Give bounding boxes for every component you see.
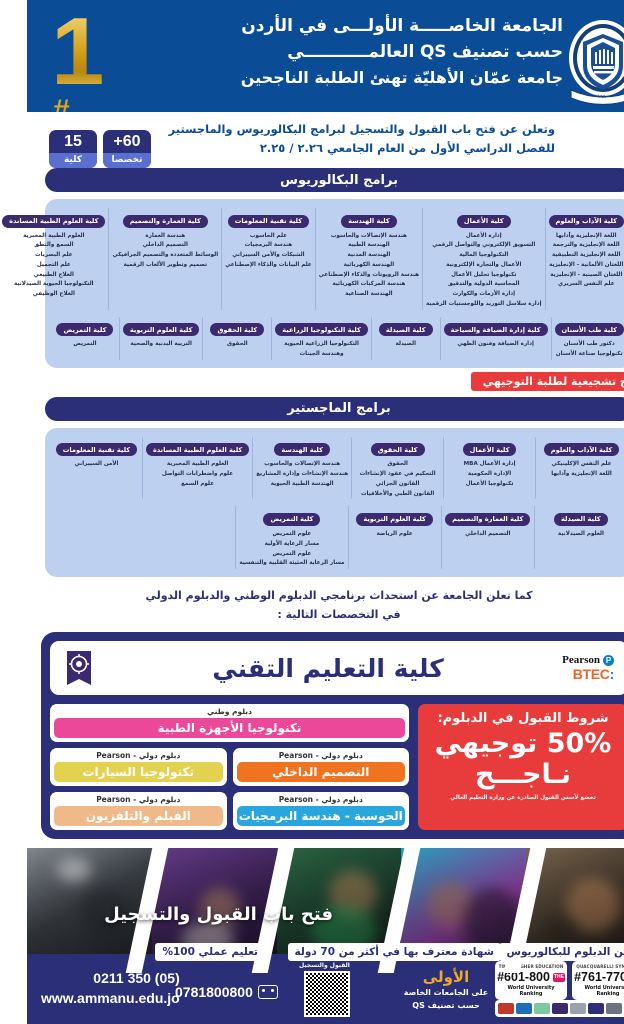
master-program-list: علوم التمريضمسار الرعاية الأوليةعلوم الت… (212, 530, 317, 569)
bachelor-college-name: كلية تقنية المعلومات (201, 215, 282, 228)
tech-education-block: P Pearson :BTEC كلية التعليم التقني شروط… (14, 632, 610, 839)
bachelor-program-item: هندسة البرمجيات (198, 241, 285, 251)
bachelor-program-item: التصميم الداخلي (85, 241, 191, 251)
diploma-card-row: دبلوم وطنيتكنولوجيا الأجهزة الطبية (23, 704, 382, 742)
requirements-percent: 50% توجيهي (399, 729, 593, 759)
master-column: كلية تقنية المعلوماتالأمن السيبراني (24, 437, 115, 500)
diploma-card-name: التصميم الداخلي (210, 762, 379, 782)
bachelor-column: كلية تقنية المعلوماتعلم الحاسوبهندسة الب… (194, 208, 288, 310)
bachelor-college-name: كلية الأعمال (430, 215, 484, 228)
subheader-line-1: وتعلن عن فتح باب القبول والتسجيل لبرامج … (138, 120, 528, 139)
bachelor-program-item: إدارة الضيافة وفنون الطهي (417, 340, 521, 350)
master-program-item: هندسة الإتصالات والحاسوب (229, 460, 321, 470)
diploma-card[interactable]: دبلوم دولي - Pearsonتكنولوجيا السيارات (23, 748, 200, 786)
bachelor-column: كلية الأعمالإدارة الأعمالالتسويق الإلكتر… (395, 208, 518, 310)
master-program-item: علوم التمريض (212, 530, 317, 540)
bachelor-college-name: كلية العمارة والتصميم (96, 215, 181, 228)
bachelor-program-item: الوسائط المتعددة والتصميم الجرافيكي (85, 251, 191, 261)
footer-website[interactable]: www.ammanu.edu.jo (14, 988, 153, 1008)
bachelor-program-list: اللغة الإنجليزية وآدابهااللغة الإنجليزية… (522, 232, 597, 291)
header-titles: الجامعة الخاصـــــة الأولـــى في الأردن … (136, 14, 536, 91)
bachelor-program-list: العلوم الطبية المخبريةالسمع والنطقعلم ال… (0, 232, 78, 300)
bachelor-program-list: هندسة العمارةالتصميم الداخليالوسائط المت… (85, 232, 191, 271)
bachelor-program-list: الحقوق (179, 340, 241, 350)
bachelor-college-name: كلية التكنولوجيا الزراعية (248, 323, 341, 336)
bachelor-college-name: كلية الحقوق (183, 323, 237, 336)
phone-icon (231, 985, 251, 999)
master-college-name: كلية العلوم التربوية (329, 513, 406, 526)
footer-mobile-number: 0781800800 (148, 984, 226, 1000)
bachelor-panel: كلية الآداب والعلوماللغة الإنجليزية وآدا… (18, 199, 606, 368)
diploma-card-kicker: دبلوم دولي - Pearson (27, 751, 196, 762)
spacer (116, 506, 208, 569)
bachelor-program-item: علم البصريات (0, 251, 78, 261)
diploma-card-name: الفيلم والتلفزيون (27, 806, 196, 826)
diploma-card-kicker: دبلوم دولي - Pearson (27, 795, 196, 806)
bachelor-program-list: علم الحاسوبهندسة البرمجياتالشبكات والأمن… (198, 232, 285, 271)
bachelor-column: كلية العلوم التربويةالتربية البدنية والص… (92, 317, 176, 360)
poster-root: 1 # الجامعة الخاصـــــة الأولـــى في الأ… (0, 0, 624, 1024)
master-college-name: كلية العمارة والتصميم (418, 513, 503, 526)
diploma-card[interactable]: دبلوم دولي - Pearsonالفيلم والتلفزيون (23, 792, 200, 830)
master-program-item: القانون الطبي والأخلاقيات (328, 490, 413, 500)
requirements-heading: شروط القبول في الدبلوم: (399, 711, 593, 726)
header-line-2: حسب تصنيف QS العالمـــــــــــي (136, 40, 536, 66)
master-college-name: كلية الآداب والعلوم (517, 443, 592, 456)
master-program-item: التحكيم في عقود الإنشاءات (328, 470, 413, 480)
qr-code[interactable] (277, 971, 323, 1017)
master-program-item: مسار الرعاية الحثيثة القلبية والتنفسية (212, 559, 317, 569)
master-college-name: كلية تقنية المعلومات (29, 443, 110, 456)
master-program-item: القانون الجزائي (328, 480, 413, 490)
bachelor-column: كلية التمريضالتمريض (24, 317, 92, 360)
bachelor-program-list: دكتور طب الأسنانتكنولوجيا صناعة الأسنان (528, 340, 597, 360)
bachelor-program-item: العلاج الطبيعي (0, 271, 78, 281)
logo-8-icon (471, 1003, 487, 1014)
ranking-org-icon: THE (526, 973, 538, 982)
bachelor-college-name: كلية الآداب والعلوم (522, 215, 597, 228)
bachelor-program-item: إدارة الأزمات والكوارث (399, 290, 515, 300)
stat-specialties-label: تخصصا (76, 153, 124, 168)
strip-chip-1: تعليم عملي 100% (128, 943, 238, 961)
header-line-1: الجامعة الخاصـــــة الأولـــى في الأردن (136, 14, 536, 40)
bachelor-column: كلية الصيدلةالصيدلة (344, 317, 413, 360)
bachelor-program-list: إدارة الضيافة وفنون الطهي (417, 340, 521, 350)
master-program-item: العلوم الصيدلانية (511, 530, 597, 540)
stat-colleges: 15 كلية (22, 130, 70, 168)
logo-2-icon (579, 1003, 595, 1014)
master-program-item: التصميم الداخلي (418, 530, 504, 540)
bachelor-column: كلية العلوم الطبية المساندةالعلوم الطبية… (0, 208, 81, 310)
master-program-item: علوم واضطرابات التواصل (119, 470, 222, 480)
master-program-item: علم النفس الإكلينيكي (512, 460, 597, 470)
bachelor-program-item: الشبكات والأمن السيبراني (198, 251, 285, 261)
diploma-intro-line-1: كما تعلن الجامعة عن استحداث برنامجي الدب… (18, 587, 606, 606)
bachelor-row-2: كلية طب الأسناندكتور طب الأسنانتكنولوجيا… (24, 317, 600, 360)
university-crest-icon: ١٩٩٠ (538, 16, 614, 112)
bachelor-program-item: الصيدلة (348, 340, 410, 350)
bachelor-program-list: التمريض (27, 340, 89, 350)
strip-chip-2: شهادة معترف بها في أكثر من 70 دولة (261, 943, 474, 961)
bachelor-program-item: اللغة الإنجليزية وآدابها (522, 232, 597, 242)
logo-5-icon (525, 1003, 541, 1014)
bachelor-college-name: كلية العلوم التربوية (96, 323, 173, 336)
diploma-card[interactable]: دبلوم دولي - Pearsonالحوسبة - هندسة البر… (206, 792, 383, 830)
logo-4-icon (543, 1003, 559, 1014)
first-rank-block: الأولى على الجامعات الخاصة حسب تصنيف QS (376, 968, 462, 1012)
master-column: كلية الصيدلةالعلوم الصيدلانية (507, 506, 600, 569)
diploma-card-name: تكنولوجيا الأجهزة الطبية (27, 718, 378, 738)
first-rank-sub-2: حسب تصنيف QS (376, 1000, 462, 1012)
bachelor-program-item: إدارة سلاسل التوريد واللوجستيات الرقمية (399, 300, 515, 310)
master-program-item: مسار الرعاية الأولية (212, 540, 317, 550)
bachelor-program-item: وهندسة الجينات (248, 350, 341, 360)
pearson-name: Pearson (535, 655, 573, 666)
master-program-list: هندسة الإتصالات والحاسوبهندسة الإنشاءات … (229, 460, 321, 489)
master-program-item: تكنولوجيا الأعمال (420, 480, 505, 490)
first-rank-sub-1: على الجامعات الخاصة (376, 987, 462, 999)
logo-7-icon (489, 1003, 505, 1014)
master-program-item: الأمن السيبراني (27, 460, 112, 470)
rank-number: 1 (24, 4, 77, 100)
bachelor-program-item: علم البيانات والذكاء الإصطناعي (198, 261, 285, 271)
bachelor-program-item: التكنولوجيا الحيوية الصيدلانية (0, 280, 78, 290)
diploma-card-name: تكنولوجيا السيارات (27, 762, 196, 782)
master-college-name: كلية التمريض (236, 513, 293, 526)
master-program-item: اللغة الإنجليزية وآدابها (512, 470, 597, 480)
master-row-1: كلية الآداب والعلومعلم النفس الإكلينيكيا… (24, 437, 600, 500)
master-program-list: الحقوقالتحكيم في عقود الإنشاءاتالقانون ا… (328, 460, 413, 499)
master-program-list: إدارة الأعمال MBAالإدارة الحكوميةتكنولوج… (420, 460, 505, 489)
btec-label: :BTEC (535, 667, 587, 681)
bachelor-program-list: إدارة الأعمالالتسويق الإلكتروني والتواصل… (399, 232, 515, 310)
bachelor-program-item: اللغتان الصينية - الإنجليزية (522, 271, 597, 281)
master-column: كلية الآداب والعلومعلم النفس الإكلينيكيا… (508, 437, 600, 500)
master-program-list: الأمن السيبراني (27, 460, 112, 470)
bachelor-program-item: المحاسبة الدولية والتدقيق (399, 280, 515, 290)
bachelor-college-name: كلية طب الأسنان (528, 323, 597, 336)
subheader-line-2: للفصل الدراسي الأول من العام الجامعي ٢.٢… (138, 139, 528, 158)
master-program-list: التصميم الداخلي (418, 530, 504, 540)
master-panel: كلية الآداب والعلومعلم النفس الإكلينيكيا… (18, 428, 606, 577)
accreditation-logos (468, 1000, 616, 1017)
master-column: كلية العمارة والتصميمالتصميم الداخلي (414, 506, 507, 569)
header-line-3: جامعة عمّان الأهليّة تهنئ الطلبة الناجحي… (136, 65, 536, 91)
bachelor-program-item: الهندسة الصناعية (292, 290, 392, 300)
bachelor-program-item: الهندسة المدنية (292, 251, 392, 261)
bachelor-program-item: هندسة الإتصالات والحاسوب (292, 232, 392, 242)
ranking-org-icon: QS (603, 973, 615, 982)
pearson-mark-icon: P (576, 655, 587, 666)
diploma-card-row: دبلوم دولي - Pearsonالحوسبة - هندسة البر… (23, 792, 382, 830)
bachelor-program-item: الأعمال والتجارة الإلكترونية (399, 261, 515, 271)
bachelor-program-item: الهندسة الطبية (292, 241, 392, 251)
strip-headline: فتح باب القبول والتسجيل (77, 904, 306, 925)
master-program-item: الحقوق (328, 460, 413, 470)
stat-specialties-value: 60+ (76, 130, 124, 153)
ranking-caption: World University Ranking (470, 985, 538, 997)
bachelor-program-item: التكنولوجيا الزراعية الحيوية (248, 340, 341, 350)
diploma-card[interactable]: دبلوم دولي - Pearsonالتصميم الداخلي (206, 748, 383, 786)
bachelor-college-name: كلية إدارة الضيافة والسياحة (417, 323, 521, 336)
bachelor-column: كلية الهندسةهندسة الإتصالات والحاسوبالهن… (288, 208, 395, 310)
bachelor-college-name: كلية العلوم الطبية المساندة (0, 215, 78, 228)
bachelor-column: كلية الحقوقالحقوق (175, 317, 244, 360)
tech-education-body: شروط القبول في الدبلوم: 50% توجيهي نـاجـ… (23, 704, 601, 830)
bachelor-row-1: كلية الآداب والعلوماللغة الإنجليزية وآدا… (24, 208, 600, 310)
master-row-2: كلية الصيدلةالعلوم الصيدلانيةكلية العمار… (24, 506, 600, 569)
master-program-item: الهندسة الطبية الحيوية (229, 480, 321, 490)
bachelor-program-item: التسويق الإلكتروني والتواصل الرقمي (399, 241, 515, 251)
tech-education-title: كلية التعليم التقني (67, 654, 535, 683)
stats-group: 60+ تخصصا 15 كلية (22, 130, 124, 168)
photo-strip: فتح باب القبول والتسجيل تعليم عملي 100% … (0, 848, 624, 973)
bachelor-program-item: العلاج الوظيفي (0, 290, 78, 300)
pearson-btec-logo: P Pearson :BTEC (535, 655, 587, 681)
bachelor-program-item: التربية البدنية والصحية (96, 340, 173, 350)
requirements-note: تخضع لأسس القبول الصادرة عن وزارة التعلي… (399, 795, 593, 803)
tech-education-header: P Pearson :BTEC كلية التعليم التقني (23, 641, 601, 695)
stat-colleges-value: 15 (22, 130, 70, 153)
bachelor-program-list: هندسة الإتصالات والحاسوبالهندسة الطبيةال… (292, 232, 392, 300)
master-column: كلية التمريضعلوم التمريضمسار الرعاية الأ… (208, 506, 320, 569)
bachelor-program-item: السمع والنطق (0, 241, 78, 251)
bachelor-program-item: إدارة الأعمال (399, 232, 515, 242)
bachelor-program-item: تكنولوجيا صناعة الأسنان (528, 350, 597, 360)
footer-contact: (05) 350 0211 www.ammanu.edu.jo (14, 968, 153, 1009)
bachelor-column: كلية الآداب والعلوماللغة الإنجليزية وآدا… (518, 208, 600, 310)
master-college-name: كلية الأعمال (436, 443, 490, 456)
bachelor-program-list: الصيدلة (348, 340, 410, 350)
logo-6-icon (507, 1003, 523, 1014)
diploma-intro-line-2: في التخصصات التالية : (18, 606, 606, 625)
diploma-card-name: الحوسبة - هندسة البرمجيات (210, 806, 379, 826)
diploma-card-kicker: دبلوم دولي - Pearson (210, 795, 379, 806)
diploma-intro: كما تعلن الجامعة عن استحداث برنامجي الدب… (18, 587, 606, 624)
bachelor-program-item: العلوم الطبية المخبرية (0, 232, 78, 242)
bachelor-column: كلية إدارة الضيافة والسياحةإدارة الضيافة… (413, 317, 524, 360)
footer-mobile[interactable]: 0781800800 (148, 984, 251, 1000)
master-program-item: علوم السمع (119, 480, 222, 490)
master-college-name: كلية العلوم الطبية المساندة (119, 443, 222, 456)
strip-chip-3: من الدبلوم للبكالوريوس (472, 943, 610, 961)
bachelor-program-item: اللغة الإنجليزية التطبيقية (522, 251, 597, 261)
master-program-item: علوم التمريض (212, 550, 317, 560)
bachelor-column: كلية طب الأسناندكتور طب الأسنانتكنولوجيا… (524, 317, 600, 360)
bachelor-program-item: الهندسة الكهربائية (292, 261, 392, 271)
bachelor-program-item: هندسة العمارة (85, 232, 191, 242)
bachelor-program-item: التكنولوجيا المالية (399, 251, 515, 261)
stat-specialties: 60+ تخصصا (76, 130, 124, 168)
diploma-card-kicker: دبلوم وطني (27, 707, 378, 718)
tech-education-icon (37, 648, 67, 688)
master-program-list: علم النفس الإكلينيكياللغة الإنجليزية وآد… (512, 460, 597, 480)
bachelor-program-item: دكتور طب الأسنان (528, 340, 597, 350)
master-program-list: العلوم الطبية المخبريةعلوم واضطرابات الت… (119, 460, 222, 489)
master-column: كلية الحقوقالحقوقالتحكيم في عقود الإنشاء… (324, 437, 416, 500)
bachelor-college-name: كلية التمريض (29, 323, 86, 336)
subheader-text: وتعلن عن فتح باب القبول والتسجيل لبرامج … (138, 120, 528, 158)
diploma-cards: دبلوم وطنيتكنولوجيا الأجهزة الطبيةدبلوم … (23, 704, 382, 830)
bachelor-column: كلية التكنولوجيا الزراعيةالتكنولوجيا الز… (244, 317, 344, 360)
master-column: كلية العلوم الطبية المساندةالعلوم الطبية… (115, 437, 225, 500)
ranking-caption: World University Ranking (547, 985, 615, 997)
master-program-item: إدارة الأعمال MBA (420, 460, 505, 470)
bachelor-program-item: اللغة الإنجليزية والترجمة (522, 241, 597, 251)
bachelor-program-item: علم التجميل (0, 261, 78, 271)
stat-colleges-label: كلية (22, 153, 70, 168)
bachelor-column: كلية العمارة والتصميمهندسة العمارةالتصمي… (81, 208, 194, 310)
bachelor-banner: برامج البكالوريوس (18, 168, 606, 192)
bachelor-program-item: تكنولوجيا تحليل الأعمال (399, 271, 515, 281)
master-college-name: كلية الهندسة (247, 443, 303, 456)
bachelor-program-item: علم النفس السريري (522, 280, 597, 290)
spacer (24, 506, 116, 569)
master-program-item: علوم الرياضة (325, 530, 411, 540)
bachelor-program-item: التمريض (27, 340, 89, 350)
bachelor-program-list: التربية البدنية والصحية (96, 340, 173, 350)
bachelor-program-list: التكنولوجيا الزراعية الحيويةوهندسة الجين… (248, 340, 341, 360)
bachelor-college-name: كلية الصيدلة (352, 323, 406, 336)
diploma-card-kicker: دبلوم دولي - Pearson (210, 751, 379, 762)
diploma-card-row: دبلوم دولي - Pearsonالتصميم الداخليدبلوم… (23, 748, 382, 786)
master-program-list: العلوم الصيدلانية (511, 530, 597, 540)
bachelor-program-item: علم الحاسوب (198, 232, 285, 242)
strip-captions: فتح باب القبول والتسجيل تعليم عملي 100% … (0, 848, 624, 973)
master-column: كلية الهندسةهندسة الإتصالات والحاسوبهندس… (225, 437, 324, 500)
diploma-card[interactable]: دبلوم وطنيتكنولوجيا الأجهزة الطبية (23, 704, 382, 742)
master-column: كلية الأعمالإدارة الأعمال MBAالإدارة الح… (416, 437, 508, 500)
bachelor-program-item: اللغتان الألمانية - الإنجليزية (522, 261, 597, 271)
bachelor-program-item: هندسة الروبوتات والذكاء الإصطناعي (292, 271, 392, 281)
requirements-pass: نـاجـــح (399, 760, 593, 790)
logo-3-icon (561, 1003, 577, 1014)
master-college-name: كلية الحقوق (344, 443, 398, 456)
bachelor-program-item: تصميم وتطوير الألعاب الرقمية (85, 261, 191, 271)
bachelor-college-name: كلية الهندسة (314, 215, 370, 228)
master-college-name: كلية الصيدلة (527, 513, 581, 526)
master-banner: برامج الماجستير (18, 397, 606, 421)
master-program-item: الإدارة الحكومية (420, 470, 505, 480)
header: 1 # الجامعة الخاصـــــة الأولـــى في الأ… (0, 0, 624, 112)
master-program-item: هندسة الإنشاءات وإدارة المشاريع (229, 470, 321, 480)
bachelor-program-item: الحقوق (179, 340, 241, 350)
master-program-list: علوم الرياضة (325, 530, 411, 540)
svg-text:١٩٩٠: ١٩٩٠ (571, 94, 582, 100)
master-program-item: العلوم الطبية المخبرية (119, 460, 222, 470)
master-column: كلية العلوم التربويةعلوم الرياضة (321, 506, 414, 569)
bachelor-program-item: هندسة المركبات الكهربائية (292, 280, 392, 290)
grant-ribbon: منح تشجيعية لطلبة التوجيهي (444, 372, 624, 391)
admission-requirements-box: شروط القبول في الدبلوم: 50% توجيهي نـاجـ… (391, 704, 601, 830)
logo-1-icon (597, 1003, 613, 1014)
